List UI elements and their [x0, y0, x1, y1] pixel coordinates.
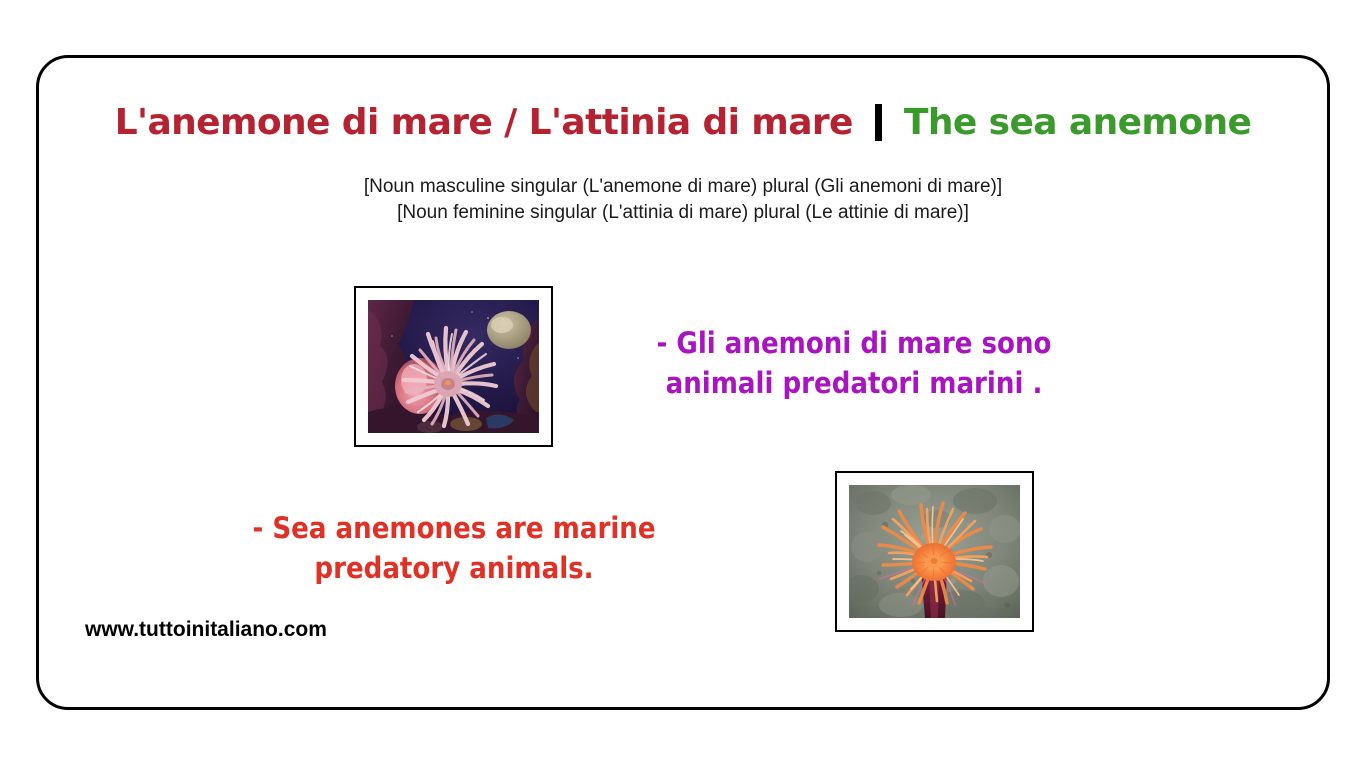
pink-sea-anemone-photo — [368, 300, 539, 433]
italian-sentence: - Gli anemoni di mare sono animali preda… — [604, 323, 1104, 403]
orange-sea-anemone-photo — [849, 485, 1020, 618]
orange-sea-anemone-frame — [835, 471, 1034, 632]
grammar-note-feminine: [Noun feminine singular (L'attinia di ma… — [39, 200, 1327, 226]
grammar-notes: [Noun masculine singular (L'anemone di m… — [39, 174, 1327, 226]
title-separator-bar — [875, 104, 882, 141]
english-title: The sea anemone — [904, 105, 1251, 141]
vocabulary-flashcard: L'anemone di mare / L'attinia di mare Th… — [36, 55, 1330, 710]
italian-title: L'anemone di mare / L'attinia di mare — [115, 105, 853, 141]
grammar-note-masculine: [Noun masculine singular (L'anemone di m… — [39, 174, 1327, 200]
website-url: www.tuttoinitaliano.com — [85, 618, 327, 642]
title-row: L'anemone di mare / L'attinia di mare Th… — [39, 104, 1327, 141]
english-sentence: - Sea anemones are marine predatory anim… — [204, 508, 704, 588]
pink-sea-anemone-frame — [354, 286, 553, 447]
